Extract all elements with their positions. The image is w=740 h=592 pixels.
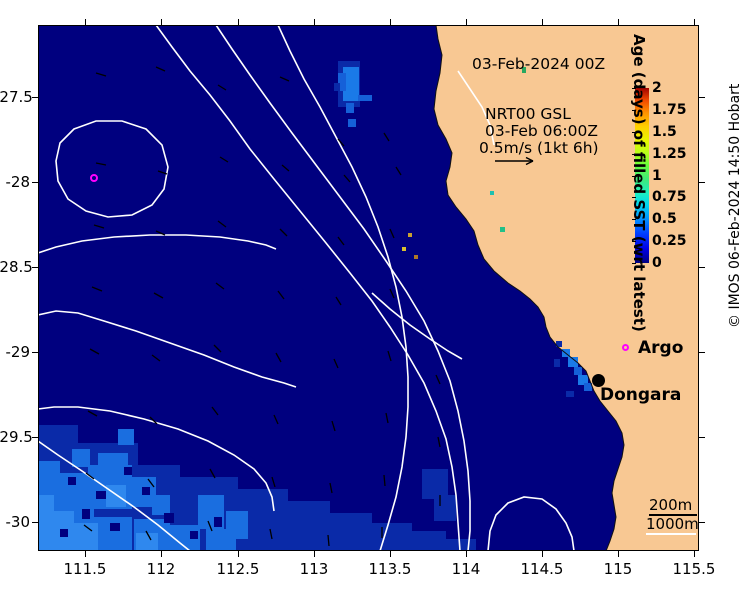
x-axis-tick-top — [694, 19, 695, 25]
date-stamp-label: 03-Feb-2024 00Z — [472, 55, 605, 73]
colorbar-tick-label: 1.25 — [652, 146, 687, 162]
figure-root: 03-Feb-2024 00Z NRT00 GSL 03-Feb 06:00Z … — [0, 0, 740, 592]
colorbar-tick-label: 1.75 — [652, 102, 687, 118]
x-axis-tick-top — [161, 19, 162, 25]
x-axis-tick — [542, 551, 543, 557]
y-axis-tick-right — [699, 522, 705, 523]
x-axis-label: 115 — [588, 560, 648, 578]
colorbar-tick — [632, 197, 636, 198]
y-axis-tick — [32, 352, 38, 353]
x-axis-label: 113 — [284, 560, 344, 578]
x-axis-label: 111.5 — [55, 560, 115, 578]
y-axis-label: -28 — [0, 173, 30, 191]
y-axis-tick-right — [699, 352, 705, 353]
depth-1000m-line-sample — [646, 533, 696, 535]
x-axis-tick-top — [85, 19, 86, 25]
y-axis-label: -29 — [0, 343, 30, 361]
x-axis-tick — [161, 551, 162, 557]
map-plot-area[interactable]: 03-Feb-2024 00Z NRT00 GSL 03-Feb 06:00Z … — [38, 25, 699, 551]
colorbar-tick — [632, 219, 636, 220]
y-axis-tick — [32, 437, 38, 438]
x-axis-label: 114.5 — [512, 560, 572, 578]
x-axis-tick-top — [390, 19, 391, 25]
y-axis-label: -30 — [0, 513, 30, 531]
velocity-reference-arrow-icon — [493, 153, 543, 169]
legend-argo-label: Argo — [638, 338, 683, 358]
x-axis-tick — [314, 551, 315, 557]
x-axis-tick — [390, 551, 391, 557]
map-canvas — [38, 25, 699, 551]
x-axis-label: 115.5 — [664, 560, 724, 578]
colorbar-tick — [632, 88, 636, 89]
x-axis-tick — [85, 551, 86, 557]
x-axis-tick — [618, 551, 619, 557]
colorbar-tick-label: 0.75 — [652, 189, 687, 205]
y-axis-label: -27.5 — [0, 88, 30, 106]
y-axis-tick-right — [699, 267, 705, 268]
colorbar-tick-label: 0 — [652, 255, 662, 271]
x-axis-tick-top — [314, 19, 315, 25]
y-axis-tick — [32, 97, 38, 98]
depth-1000m-label: 1000m — [646, 515, 699, 533]
model-name-label: NRT00 GSL — [485, 105, 571, 123]
x-axis-tick-top — [618, 19, 619, 25]
legend-dongara-label: Dongara — [600, 385, 681, 405]
colorbar-tick — [632, 263, 636, 264]
colorbar-tick — [632, 132, 636, 133]
y-axis-label: -29.5 — [0, 428, 30, 446]
x-axis-label: 112.5 — [208, 560, 268, 578]
x-axis-tick-top — [238, 19, 239, 25]
y-axis-tick — [32, 522, 38, 523]
x-axis-tick-top — [466, 19, 467, 25]
y-axis-tick — [32, 267, 38, 268]
x-axis-tick — [694, 551, 695, 557]
legend-argo-circle-icon — [622, 344, 629, 351]
x-axis-tick — [466, 551, 467, 557]
y-axis-tick-right — [699, 97, 705, 98]
x-axis-label: 112 — [131, 560, 191, 578]
colorbar-tick-label: 2 — [652, 80, 662, 96]
colorbar-tick — [632, 154, 636, 155]
y-axis-label: -28.5 — [0, 258, 30, 276]
y-axis-tick-right — [699, 437, 705, 438]
x-axis-tick — [238, 551, 239, 557]
colorbar-tick-label: 0.25 — [652, 233, 687, 249]
colorbar-tick-label: 1 — [652, 168, 662, 184]
y-axis-tick-right — [699, 182, 705, 183]
y-axis-tick — [32, 182, 38, 183]
colorbar-tick-label: 1.5 — [652, 124, 677, 140]
colorbar-tick — [632, 241, 636, 242]
x-axis-label: 114 — [436, 560, 496, 578]
x-axis-label: 113.5 — [360, 560, 420, 578]
colorbar-tick — [632, 176, 636, 177]
model-time-label: 03-Feb 06:00Z — [485, 122, 598, 140]
depth-200m-label: 200m — [649, 496, 692, 514]
colorbar-tick — [632, 110, 636, 111]
colorbar-tick-label: 0.5 — [652, 211, 677, 227]
imos-credit-label: © IMOS 06-Feb-2024 14:50 Hobart — [727, 84, 740, 328]
argo-float-marker-icon[interactable] — [90, 174, 98, 182]
x-axis-tick-top — [542, 19, 543, 25]
